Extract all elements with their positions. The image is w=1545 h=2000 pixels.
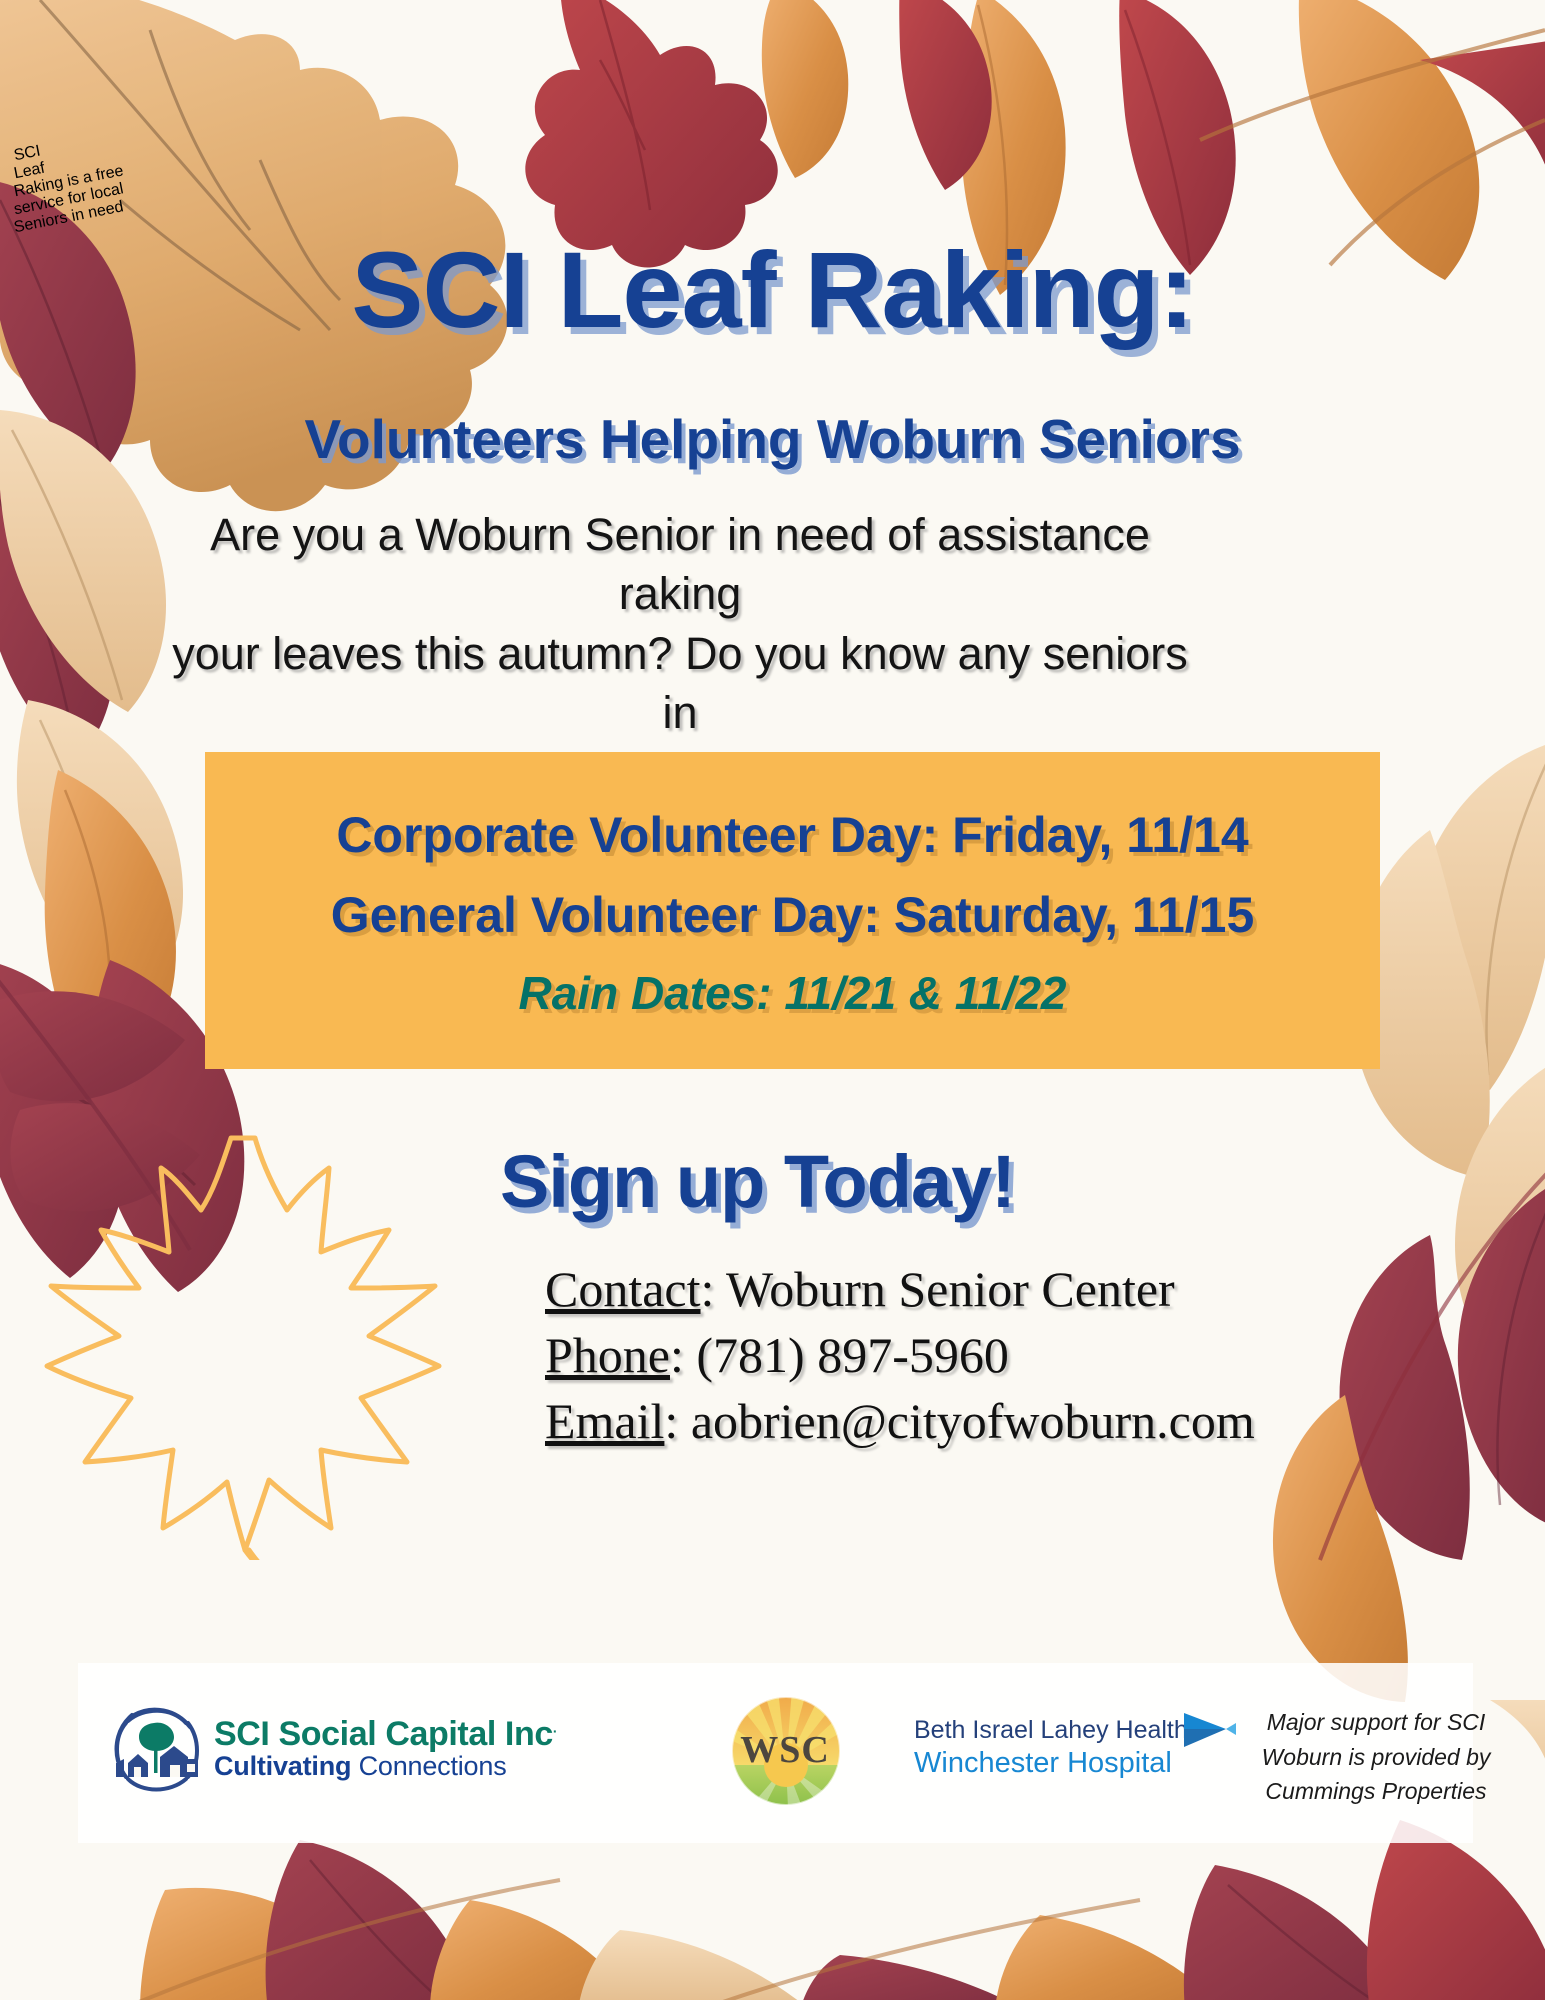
page-subtitle: Volunteers Helping Woburn Seniors	[0, 412, 1545, 467]
corporate-volunteer-day: Corporate Volunteer Day: Friday, 11/14	[205, 752, 1380, 860]
support-line-1: Major support for SCI	[1256, 1705, 1496, 1740]
phone-row[interactable]: Phone: (781) 897-5960	[545, 1322, 1255, 1388]
signup-heading: Sign up Today!	[500, 1139, 1015, 1224]
winchester-hospital-logo: Beth Israel Lahey Health Winchester Hosp…	[914, 1715, 1188, 1781]
contact-value: : Woburn Senior Center	[701, 1261, 1175, 1317]
beth-israel-lahey-health-text: Beth Israel Lahey Health	[914, 1715, 1188, 1746]
sponsor-footer-bar: SCI Social Capital Inc. Cultivating Conn…	[78, 1663, 1473, 1843]
phone-label: Phone	[545, 1327, 670, 1383]
general-volunteer-day: General Volunteer Day: Saturday, 11/15	[205, 860, 1380, 940]
intro-line-2: your leaves this autumn? Do you know any…	[160, 624, 1200, 743]
sci-social-capital-logo: SCI Social Capital Inc. Cultivating Conn…	[108, 1701, 556, 1797]
contact-row: Contact: Woburn Senior Center	[545, 1256, 1255, 1322]
bilh-arrow-icon	[1182, 1709, 1238, 1755]
flyer-page: SCI Leaf Raking: Volunteers Helping Wobu…	[0, 0, 1545, 2000]
support-line-2: Woburn is provided by	[1256, 1740, 1496, 1775]
major-support-note: Major support for SCI Woburn is provided…	[1256, 1705, 1496, 1809]
sci-logo-name: SCI Social Capital Inc.	[214, 1717, 556, 1752]
intro-line-1: Are you a Woburn Senior in need of assis…	[160, 505, 1200, 624]
sci-circle-houses-tree-icon	[108, 1701, 204, 1797]
rain-dates: Rain Dates: 11/21 & 11/22	[205, 940, 1380, 1016]
sci-logo-tagline: Cultivating Connections	[214, 1752, 556, 1780]
email-value[interactable]: : aobrien@cityofwoburn.com	[664, 1393, 1254, 1449]
page-title: SCI Leaf Raking:	[0, 236, 1545, 344]
dates-banner: Corporate Volunteer Day: Friday, 11/14 G…	[205, 752, 1380, 1069]
winchester-hospital-text: Winchester Hospital	[914, 1746, 1188, 1781]
wsc-logo: WSC	[730, 1695, 842, 1812]
flyer-content: SCI Leaf Raking: Volunteers Helping Wobu…	[0, 0, 1545, 2000]
contact-details: Contact: Woburn Senior Center Phone: (78…	[545, 1256, 1255, 1454]
contact-label: Contact	[545, 1261, 701, 1317]
sci-logo-wordmark: SCI Social Capital Inc. Cultivating Conn…	[214, 1717, 556, 1780]
maple-leaf-outline-icon	[35, 1130, 455, 1560]
phone-value[interactable]: : (781) 897-5960	[670, 1327, 1009, 1383]
email-row[interactable]: Email: aobrien@cityofwoburn.com	[545, 1388, 1255, 1454]
wsc-logo-text: WSC	[730, 1695, 840, 1805]
email-label: Email	[545, 1393, 664, 1449]
leaf-outline-badge	[35, 1130, 455, 1560]
support-line-3: Cummings Properties	[1256, 1774, 1496, 1809]
